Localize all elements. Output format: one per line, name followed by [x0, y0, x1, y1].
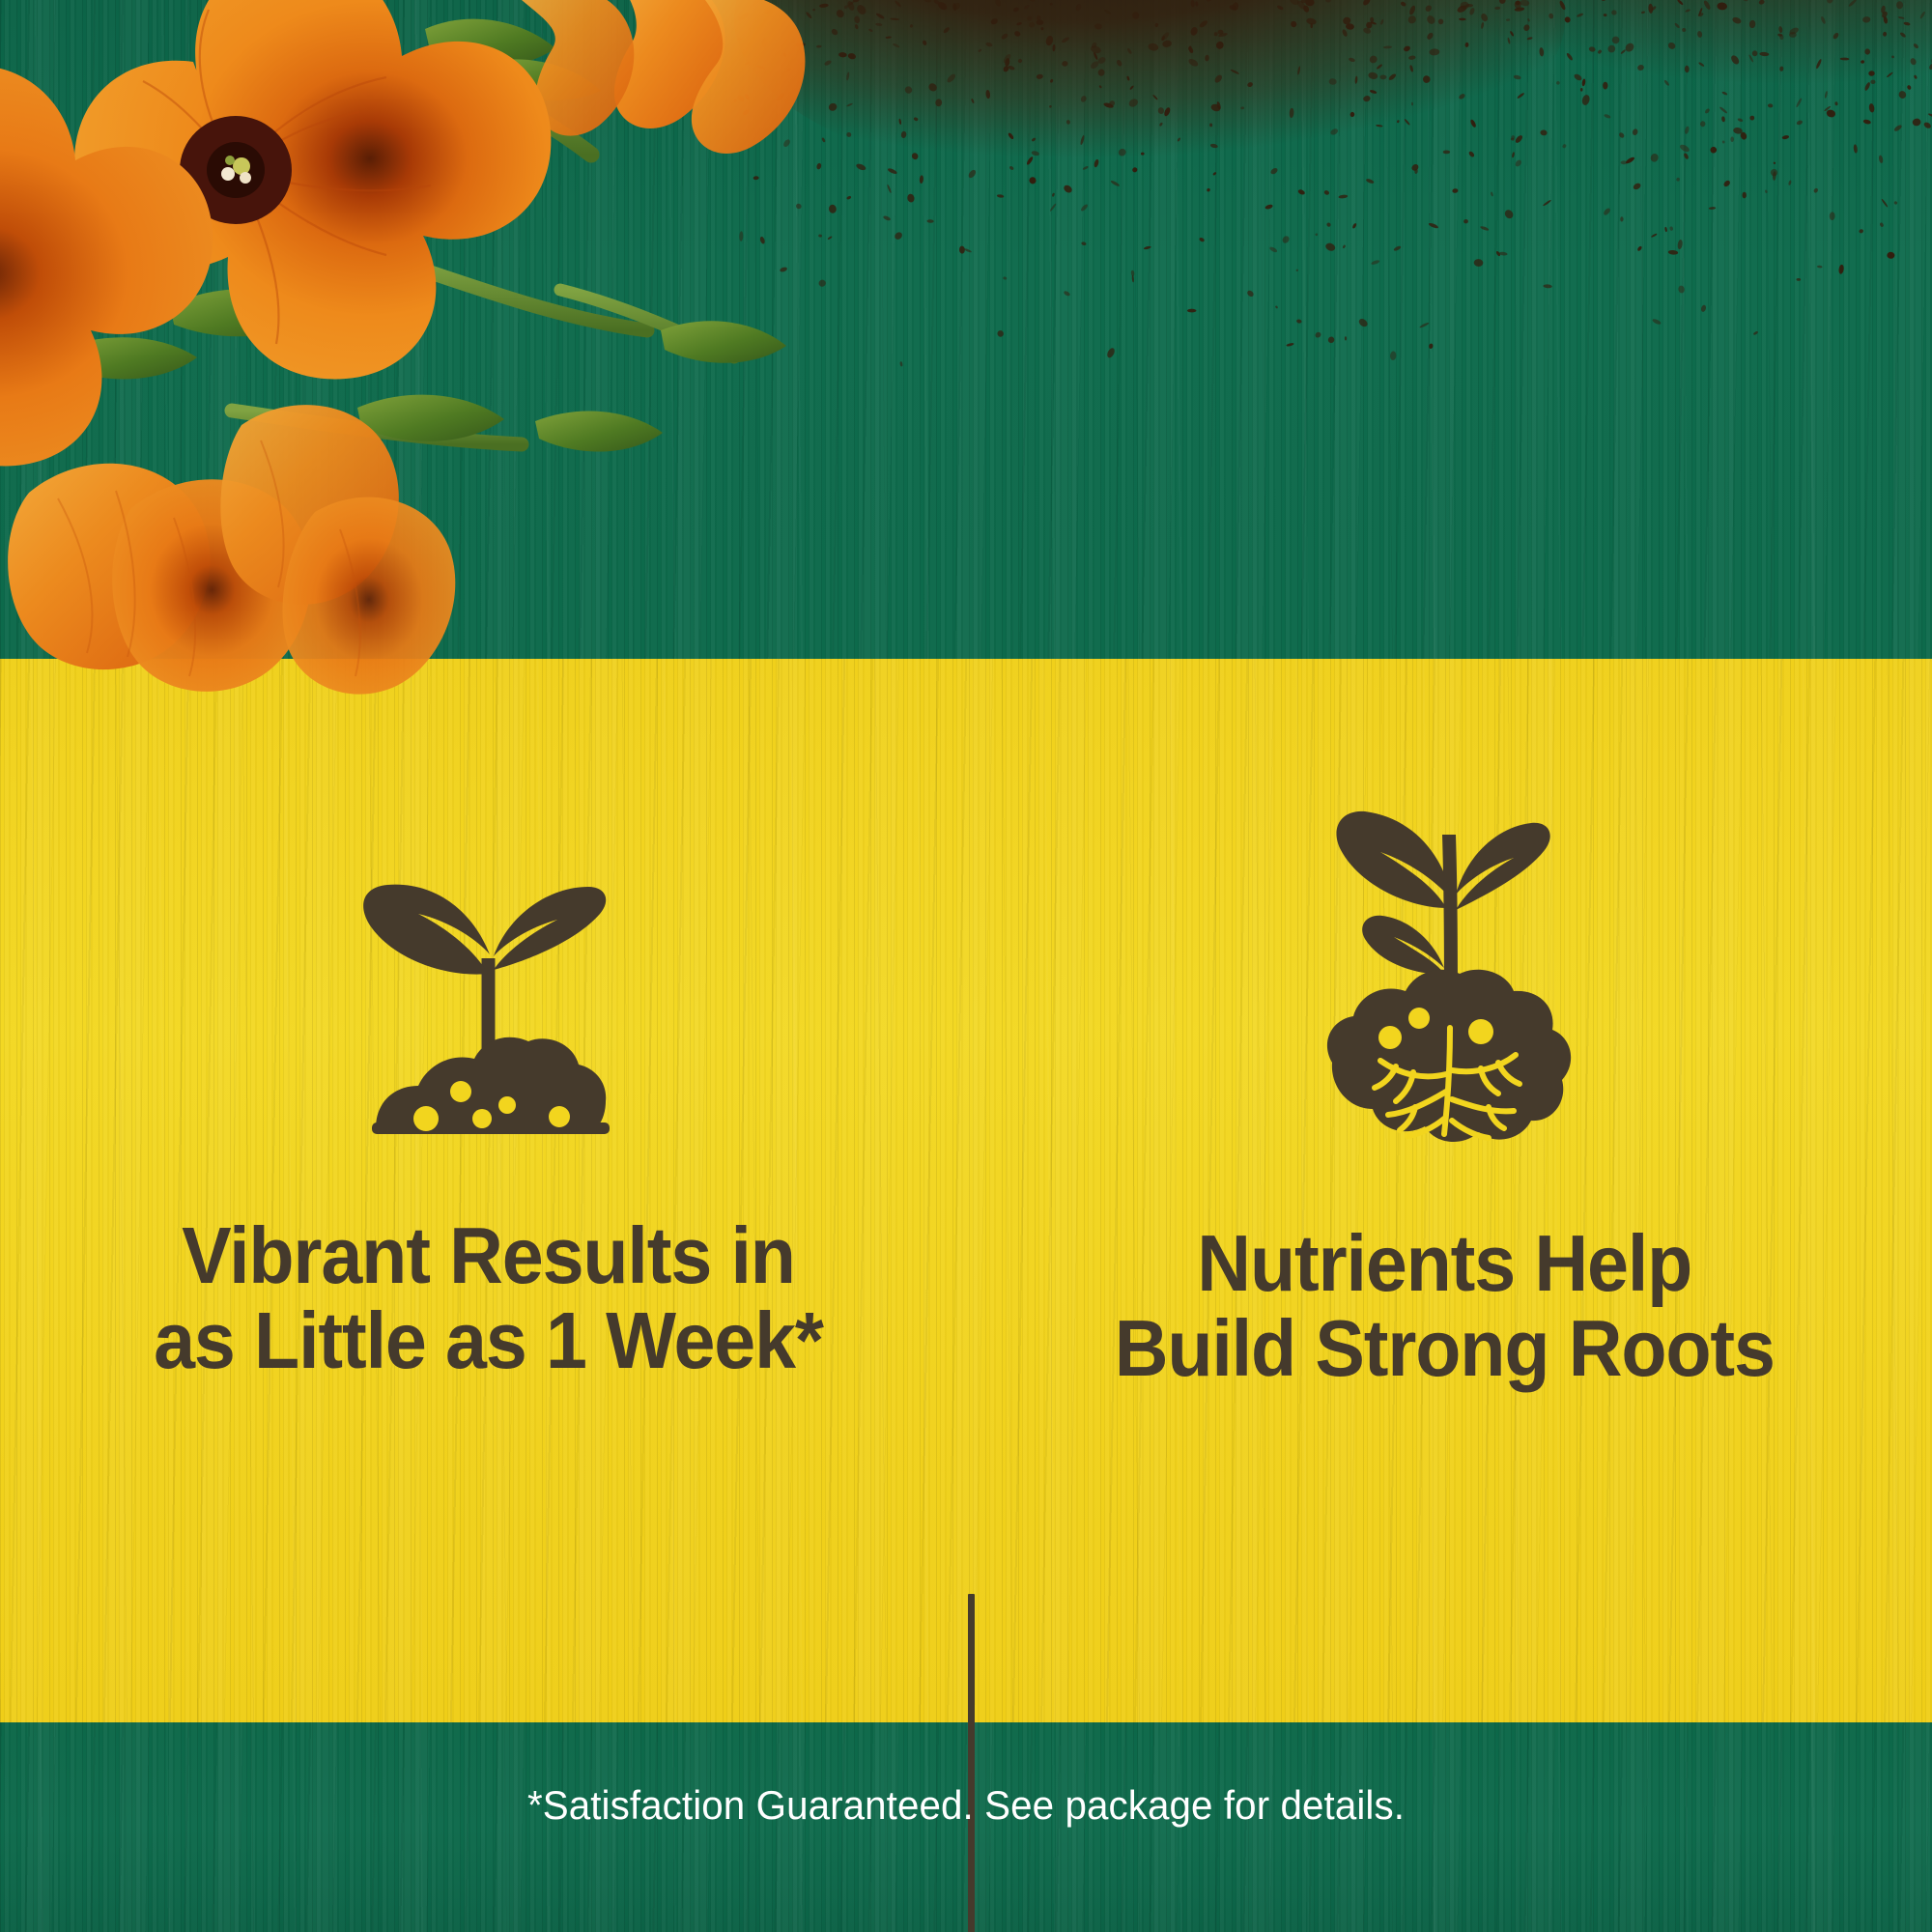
benefit-title: Nutrients Help Build Strong Roots	[1114, 1221, 1774, 1391]
benefit-title: Vibrant Results in as Little as 1 Week*	[154, 1213, 823, 1383]
benefit-title-line-2: Build Strong Roots	[1114, 1306, 1774, 1391]
plant-with-roots-in-soil-icon	[1299, 784, 1589, 1151]
benefit-title-line-1: Nutrients Help	[1114, 1221, 1774, 1306]
benefits-row: Vibrant Results in as Little as 1 Week*	[0, 659, 1932, 1722]
seedling-sprout-in-soil-icon	[358, 869, 617, 1138]
top-green-wood-band	[0, 0, 1932, 659]
vertical-column-divider	[968, 1594, 975, 1932]
benefit-strong-roots: Nutrients Help Build Strong Roots	[1014, 659, 1874, 1722]
benefit-title-line-1: Vibrant Results in	[154, 1213, 823, 1298]
footnote-disclaimer: *Satisfaction Guaranteed. See package fo…	[39, 1782, 1893, 1829]
benefit-title-line-2: as Little as 1 Week*	[154, 1298, 823, 1383]
promo-panel: Vibrant Results in as Little as 1 Week*	[0, 0, 1932, 1932]
benefit-vibrant-results: Vibrant Results in as Little as 1 Week*	[58, 659, 918, 1722]
